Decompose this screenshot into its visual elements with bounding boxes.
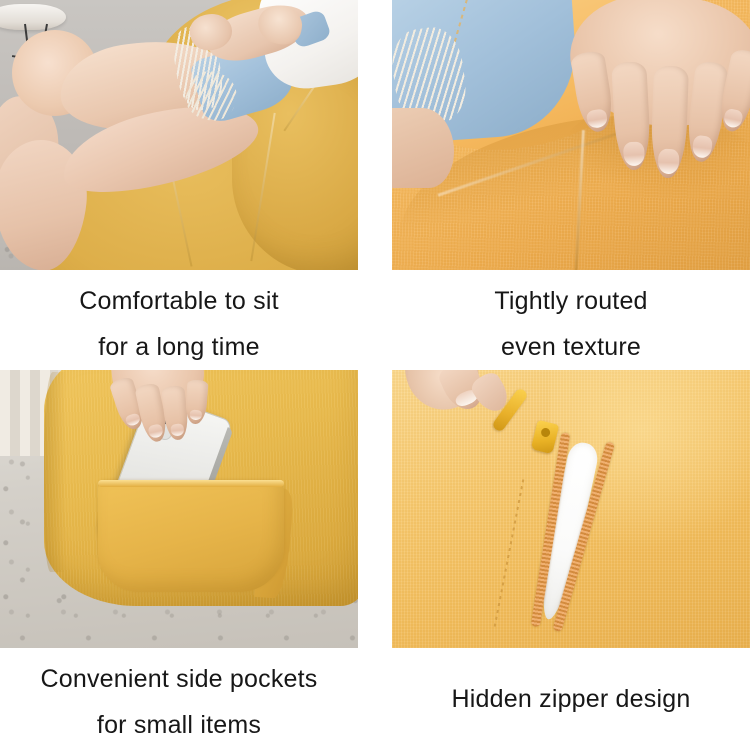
photo-tightly-routed bbox=[392, 0, 750, 270]
bean-bag-edge-shadow bbox=[44, 372, 66, 572]
fingernail bbox=[691, 135, 713, 159]
fingernail bbox=[723, 108, 744, 129]
caption-line: Convenient side pockets bbox=[0, 656, 358, 702]
panel-tightly-routed bbox=[392, 0, 750, 270]
caption-line: Comfortable to sit bbox=[0, 278, 358, 324]
panel-side-pockets bbox=[0, 370, 358, 648]
caption-line: for small items bbox=[0, 702, 358, 748]
product-feature-infographic: Comfortable to sit for a long time Tight… bbox=[0, 0, 750, 750]
caption-side-pockets: Convenient side pockets for small items bbox=[0, 656, 358, 748]
caption-line: Hidden zipper design bbox=[392, 676, 750, 722]
photo-side-pockets bbox=[0, 370, 358, 648]
photo-comfortable-to-sit bbox=[0, 0, 358, 270]
fingernail bbox=[657, 149, 679, 174]
caption-line: for a long time bbox=[0, 324, 358, 370]
caption-hidden-zipper: Hidden zipper design bbox=[392, 676, 750, 722]
caption-comfortable-to-sit: Comfortable to sit for a long time bbox=[0, 278, 358, 370]
photo-hidden-zipper bbox=[392, 370, 750, 648]
panel-comfortable-to-sit bbox=[0, 0, 358, 270]
leg bbox=[392, 108, 454, 188]
fingernail bbox=[170, 423, 185, 436]
pocket-opening bbox=[98, 480, 284, 487]
caption-line: Tightly routed bbox=[392, 278, 750, 324]
caption-line: even texture bbox=[392, 324, 750, 370]
fingernail bbox=[622, 142, 644, 167]
fingernail bbox=[586, 109, 609, 130]
panel-hidden-zipper bbox=[392, 370, 750, 648]
caption-tightly-routed: Tightly routed even texture bbox=[392, 278, 750, 370]
fingernail bbox=[148, 423, 165, 438]
fingernail bbox=[189, 410, 202, 421]
side-pocket bbox=[98, 482, 284, 592]
